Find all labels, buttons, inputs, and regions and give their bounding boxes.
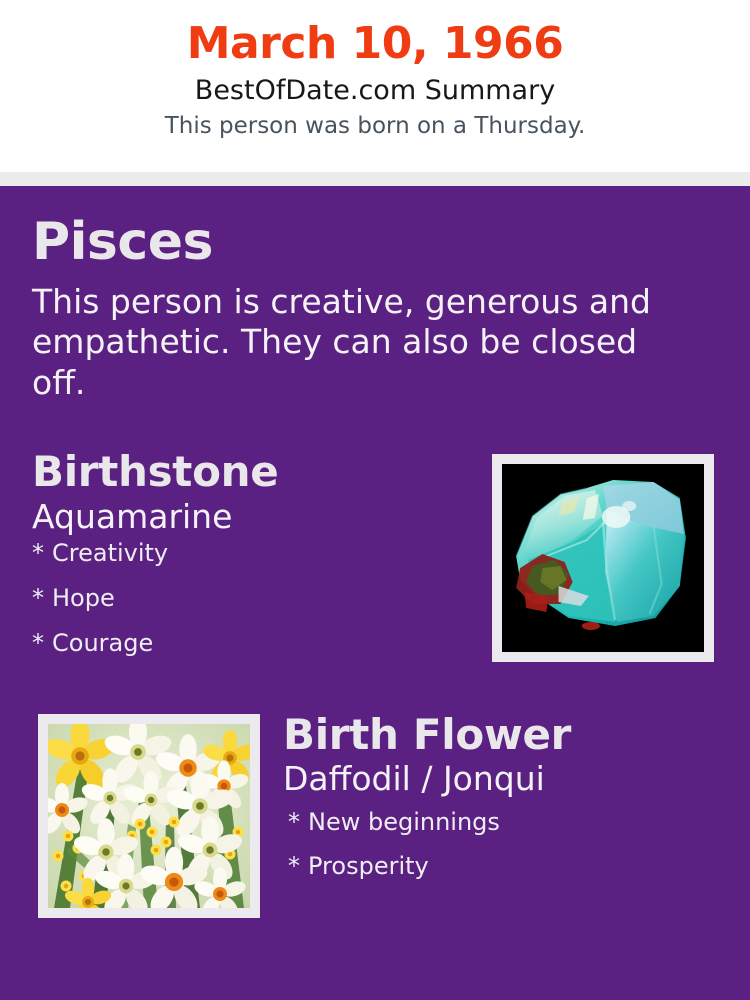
page-header: March 10, 1966 BestOfDate.com Summary Th… bbox=[0, 0, 750, 172]
zodiac-section: Pisces This person is creative, generous… bbox=[0, 186, 750, 403]
trait-label: Creativity bbox=[52, 539, 168, 567]
birthstone-image-frame bbox=[492, 454, 714, 662]
page-title-date: March 10, 1966 bbox=[0, 22, 750, 66]
birth-flower-image-frame bbox=[38, 714, 260, 918]
summary-panel: Pisces This person is creative, generous… bbox=[0, 186, 750, 1000]
birth-flower-heading: Birth Flower bbox=[283, 714, 750, 756]
site-name-subtitle: BestOfDate.com Summary bbox=[0, 76, 750, 106]
weekday-note: This person was born on a Thursday. bbox=[0, 114, 750, 139]
list-item: *New beginnings bbox=[288, 810, 750, 834]
bullet-star-icon: * bbox=[288, 854, 308, 878]
birth-flower-trait-list: *New beginnings *Prosperity bbox=[283, 810, 750, 878]
header-divider bbox=[0, 172, 750, 186]
trait-label: New beginnings bbox=[308, 808, 500, 836]
zodiac-description: This person is creative, generous and em… bbox=[32, 282, 695, 403]
bullet-star-icon: * bbox=[32, 631, 52, 655]
bullet-star-icon: * bbox=[288, 810, 308, 834]
zodiac-sign-title: Pisces bbox=[32, 216, 695, 268]
bullet-star-icon: * bbox=[32, 586, 52, 610]
aquamarine-crystal-photo bbox=[502, 464, 704, 652]
trait-label: Courage bbox=[52, 629, 153, 657]
birth-flower-name: Daffodil / Jonqui bbox=[283, 761, 750, 797]
trait-label: Hope bbox=[52, 584, 115, 612]
birth-flower-section: Birth Flower Daffodil / Jonqui *New begi… bbox=[0, 714, 750, 924]
trait-label: Prosperity bbox=[308, 852, 429, 880]
daffodil-bouquet-photo bbox=[48, 724, 250, 908]
birthstone-section: Birthstone Aquamarine *Creativity *Hope … bbox=[0, 451, 750, 667]
list-item: *Prosperity bbox=[288, 854, 750, 878]
bullet-star-icon: * bbox=[32, 541, 52, 565]
